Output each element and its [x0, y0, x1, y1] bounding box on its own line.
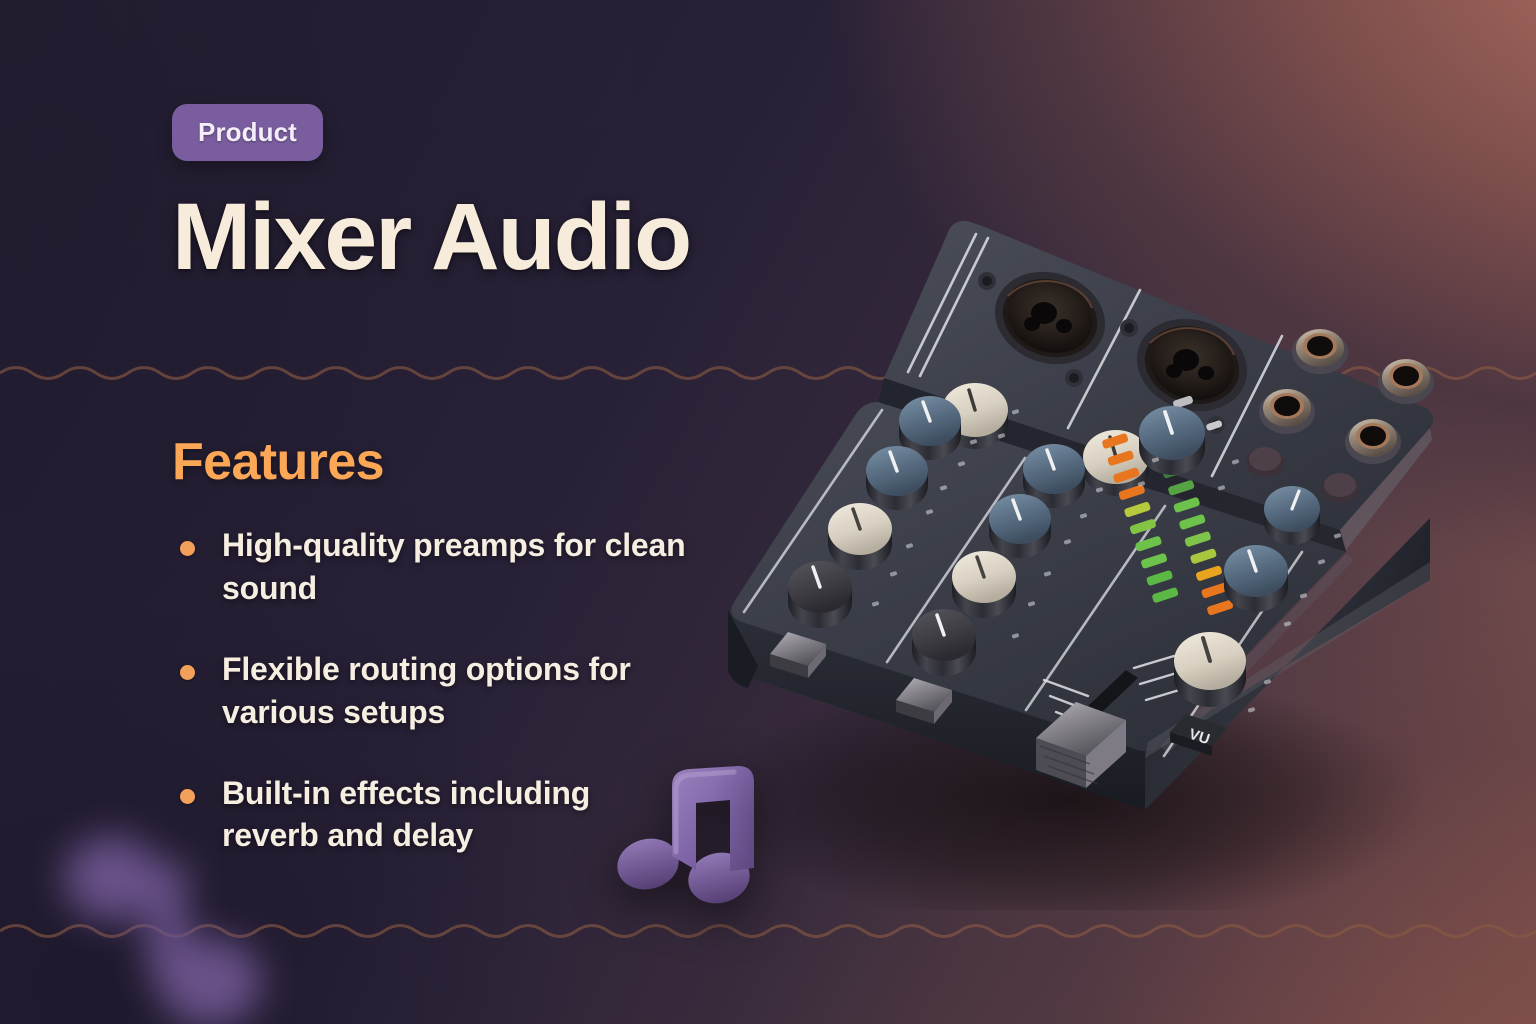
- bullet-dot-icon: [180, 665, 195, 680]
- trs-jack-1[interactable]: [1292, 329, 1348, 374]
- bullet-dot-icon: [180, 789, 195, 804]
- list-item-label: High-quality preamps for clean sound: [222, 527, 685, 606]
- master-volume-knob[interactable]: [1174, 632, 1246, 707]
- channel1-knob-level[interactable]: [788, 561, 852, 628]
- trs-jack-2[interactable]: [1378, 359, 1434, 404]
- list-item: Flexible routing options for various set…: [172, 648, 692, 734]
- push-button-top-1[interactable]: [1246, 447, 1284, 477]
- list-item-label: Built-in effects including reverb and de…: [222, 775, 590, 854]
- category-badge-label: Product: [198, 117, 297, 148]
- channel2-knob-level[interactable]: [912, 609, 976, 676]
- channel4-knob-pan[interactable]: [1264, 486, 1320, 545]
- audio-mixer-3d-render: VU: [640, 110, 1460, 910]
- category-badge[interactable]: Product: [172, 104, 323, 161]
- channel1-knob-low[interactable]: [828, 503, 892, 570]
- channel4-knob-fx[interactable]: [1224, 545, 1288, 612]
- channel1-knob-mid[interactable]: [866, 446, 928, 510]
- bullet-dot-icon: [180, 541, 195, 556]
- channel2-knob-mid[interactable]: [989, 494, 1051, 558]
- channel4-knob-aux[interactable]: [1139, 406, 1205, 475]
- poster-canvas: Product Mixer Audio Features High-qualit…: [0, 0, 1536, 1024]
- channel2-knob-low[interactable]: [952, 551, 1016, 618]
- features-heading: Features: [172, 432, 384, 492]
- page-title: Mixer Audio: [172, 190, 690, 285]
- list-item: High-quality preamps for clean sound: [172, 524, 692, 610]
- list-item-label: Flexible routing options for various set…: [222, 651, 631, 730]
- push-button-top-2[interactable]: [1321, 473, 1359, 503]
